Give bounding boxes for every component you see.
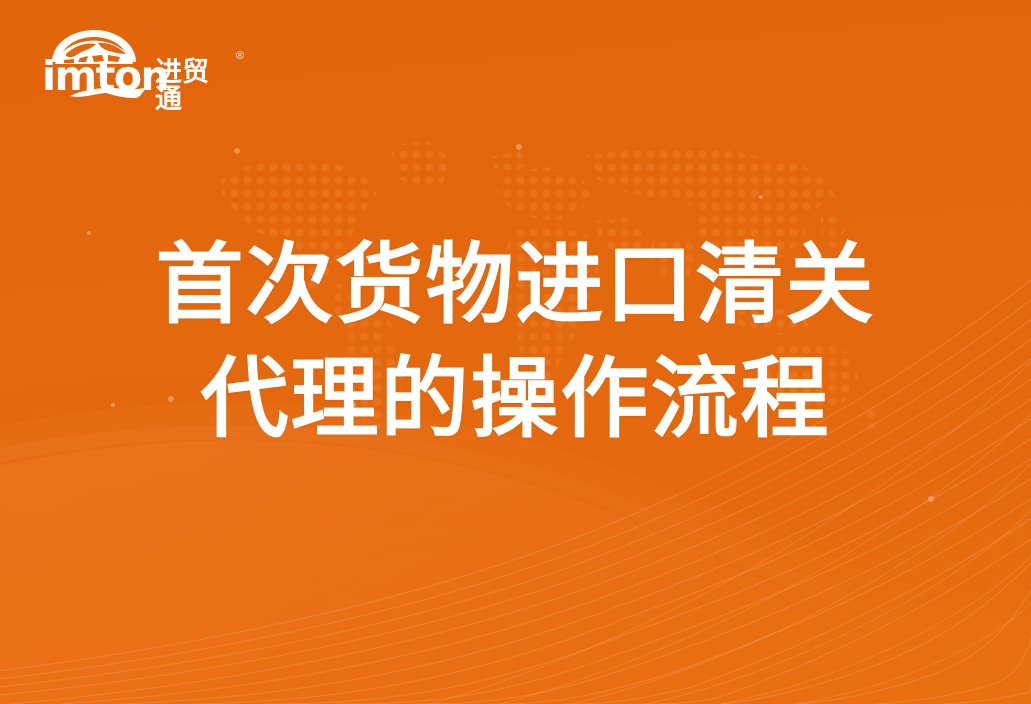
logo-chinese-name: 进贸通 xyxy=(155,59,217,113)
sparkle-dot xyxy=(928,496,934,502)
logo-trademark-symbol: ® xyxy=(236,51,244,62)
logo-wordmark: imton xyxy=(42,56,168,97)
page-title: 首次货物进口清关 代理的操作流程 xyxy=(0,228,1031,457)
title-line-1: 首次货物进口清关 xyxy=(0,228,1031,342)
title-line-2: 代理的操作流程 xyxy=(0,342,1031,456)
brand-logo[interactable]: imton 进贸通 ® xyxy=(42,26,217,102)
banner-canvas: imton 进贸通 ® 首次货物进口清关 代理的操作流程 xyxy=(0,0,1031,704)
